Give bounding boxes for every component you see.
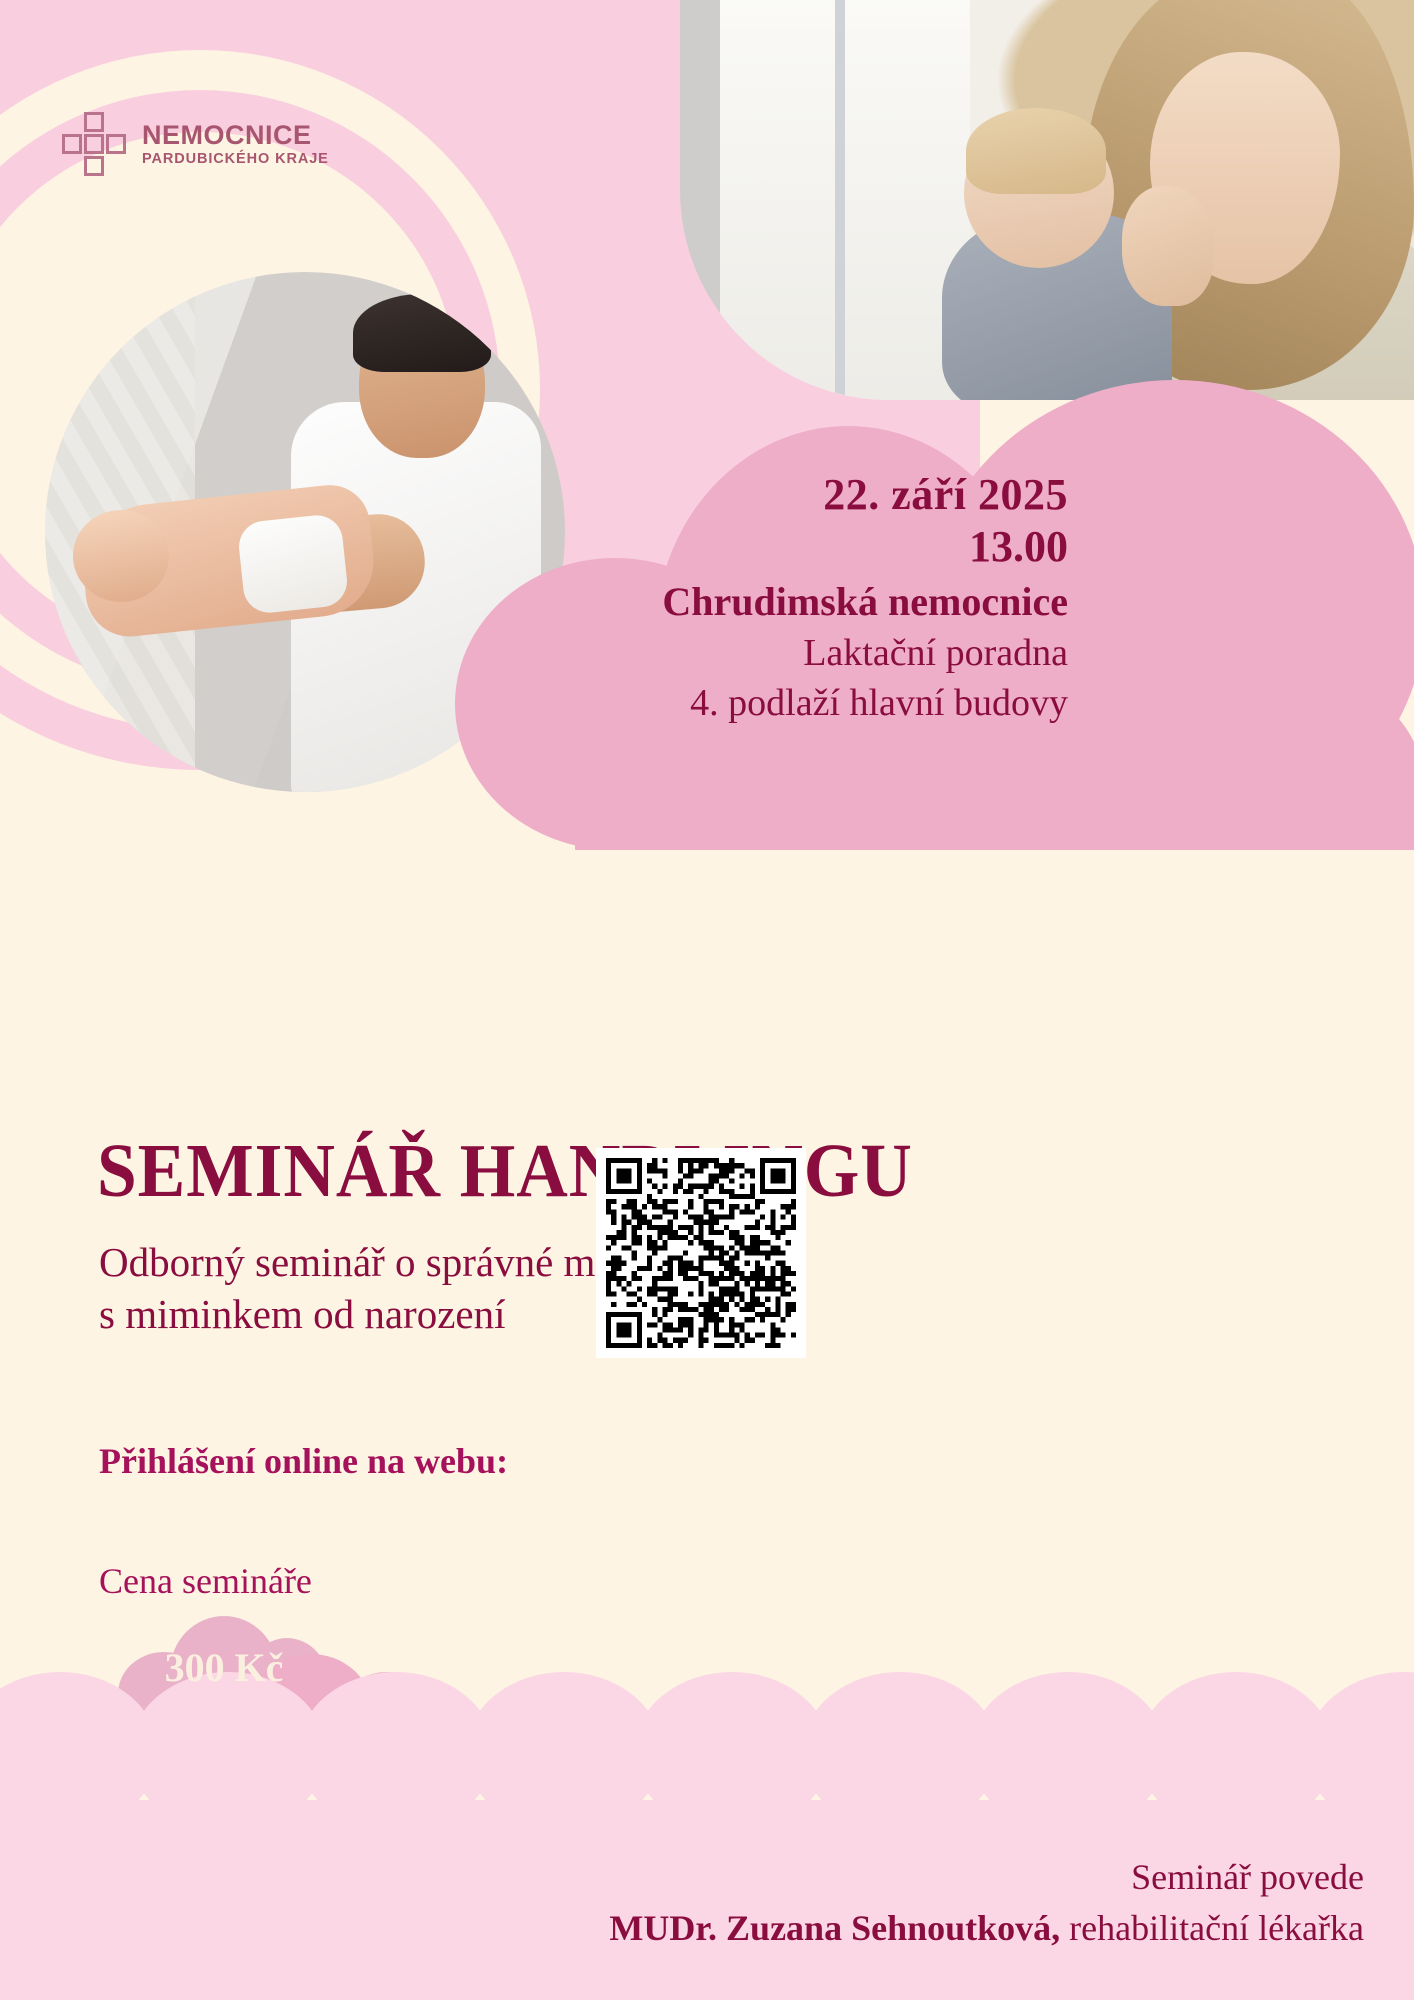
footer-scallop-edge [0, 1740, 1414, 1832]
qr-code-canvas [606, 1158, 796, 1348]
price-label: Cena semináře [99, 1560, 312, 1602]
price-value: 300 Kč [118, 1644, 330, 1691]
newborn-diaper [236, 513, 349, 615]
mother-hand [1122, 186, 1214, 306]
brand-logo: NEMOCNICE PARDUBICKÉHO KRAJE [62, 112, 329, 176]
brand-logo-text: NEMOCNICE PARDUBICKÉHO KRAJE [142, 122, 329, 167]
qr-code-icon[interactable] [596, 1148, 806, 1358]
hero-photo [680, 0, 1414, 400]
event-time: 13.00 [468, 519, 1068, 575]
signup-label: Přihlášení online na webu: [99, 1440, 508, 1482]
footer-lead: Seminář povede [609, 1852, 1364, 1903]
window-backdrop [720, 0, 970, 400]
footer-presenter-name: MUDr. Zuzana Sehnoutková, [609, 1908, 1060, 1948]
footer-presenter: MUDr. Zuzana Sehnoutková, rehabilitační … [609, 1903, 1364, 1954]
brand-line-2: PARDUBICKÉHO KRAJE [142, 152, 329, 167]
footer-credit: Seminář povede MUDr. Zuzana Sehnoutková,… [609, 1852, 1364, 1954]
brand-line-1: NEMOCNICE [142, 122, 329, 149]
hospital-squares-logo-icon [62, 112, 128, 176]
event-details: 22. září 2025 13.00 Chrudimská nemocnice… [468, 470, 1068, 729]
baby-hair [966, 108, 1106, 194]
poster-root: 22. září 2025 13.00 Chrudimská nemocnice… [0, 0, 1414, 2000]
event-date: 22. září 2025 [468, 470, 1068, 519]
footer-presenter-role: rehabilitační lékařka [1060, 1908, 1364, 1948]
hero-photo-image [680, 0, 1414, 400]
newborn-head [73, 510, 169, 602]
event-floor: 4. podlaží hlavní budovy [468, 678, 1068, 729]
event-place: Chrudimská nemocnice [468, 576, 1068, 628]
event-room: Laktační poradna [468, 628, 1068, 679]
father-hair [353, 294, 491, 372]
